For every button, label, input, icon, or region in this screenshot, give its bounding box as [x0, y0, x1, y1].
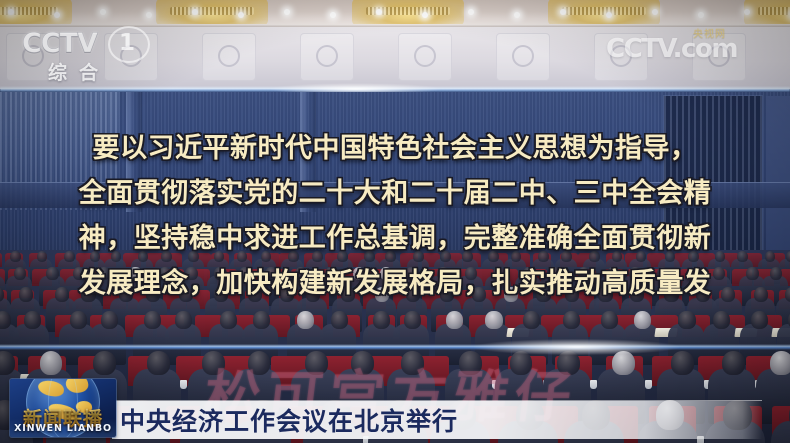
headline-bar: 中央经济工作会议在北京举行 [112, 401, 762, 439]
ceiling-gold-ornament [744, 0, 790, 26]
audience-person-head [70, 311, 87, 329]
program-title-pinyin: XINWEN LIANBO [10, 423, 116, 434]
wall-panel [496, 33, 550, 81]
audience-person-head [485, 311, 502, 329]
channel-number: 1 [108, 28, 146, 58]
ceiling-band [0, 0, 790, 26]
ceiling-light-bulb [192, 9, 198, 15]
audience-person-head [175, 311, 192, 329]
audience-person-head [147, 351, 170, 375]
headline-text: 中央经济工作会议在北京举行 [120, 402, 458, 438]
program-logo-xinwen-lianbo: 新闻联播 XINWEN LIANBO [10, 379, 116, 437]
table-cup [645, 380, 652, 389]
ceiling-gold-ornament [156, 0, 268, 26]
audience-person-head [678, 311, 695, 329]
ceiling-light-bulb [146, 12, 152, 18]
audience-person-head [305, 351, 328, 375]
audience-person-head [404, 311, 421, 329]
subtitle-line-1: 要以习近平新时代中国特色社会主义思想为指导， [0, 126, 790, 171]
subtitle-line-2: 全面贯彻落实党的二十大和二十届二中、三中全会精 [0, 171, 790, 216]
audience-person-head [93, 351, 116, 375]
ceiling-light-bulb [514, 12, 520, 18]
ceiling-light-bulb [560, 9, 566, 15]
ceiling-light-bulb [468, 9, 474, 15]
cctv-com-domain: CCTV.com [606, 34, 756, 64]
audience-person-head [523, 311, 540, 329]
audience-person-head [751, 311, 768, 329]
audience-person-head [101, 311, 118, 329]
wall-panel [398, 33, 452, 81]
ceiling-light-bulb [238, 12, 244, 18]
cctv-com-cn-label: 央视网 [693, 25, 726, 40]
audience-person-head [713, 311, 730, 329]
ceiling-light-bulb [606, 12, 612, 18]
audience-person-head [297, 311, 314, 329]
ceiling-gold-ornament [352, 0, 464, 26]
ceiling-light-bulb [8, 9, 14, 15]
audience-person-head [144, 311, 161, 329]
cctv-channel-logo: CCTV 1 综合 [22, 28, 154, 84]
broadcast-scanline [0, 344, 790, 350]
audience-person-head [634, 311, 651, 329]
ceiling-light-bulb [54, 12, 60, 18]
table-cup [180, 380, 187, 389]
ceiling-light-bulb [422, 12, 428, 18]
audience-person-head [601, 311, 618, 329]
ceiling-light-bulb [376, 9, 382, 15]
ceiling-light-bulb [698, 12, 704, 18]
audience-person-head [722, 351, 745, 375]
audience-person-head [401, 351, 424, 375]
ceiling-light-bulb [652, 9, 658, 15]
table-cup [590, 380, 597, 389]
audience-person-head [220, 311, 237, 329]
wall-panel [202, 33, 256, 81]
audience-person-head [0, 351, 15, 375]
audience-person-head [202, 351, 225, 375]
wall-panel [300, 33, 354, 81]
audience-person-head [446, 311, 463, 329]
audience-person-head [563, 311, 580, 329]
channel-name-cn: 综合 [48, 58, 110, 85]
ceiling-light-bulb [100, 9, 106, 15]
audience-person-head [248, 351, 271, 375]
ceiling-light-bulb [744, 9, 750, 15]
ceiling-light-bulb [284, 9, 290, 15]
audience-person-head [351, 351, 374, 375]
subtitle-line-4: 发展理念，加快构建新发展格局，扎实推动高质量发 [0, 261, 790, 306]
audience-person-head [373, 311, 390, 329]
cctv-network-text: CCTV [22, 28, 97, 59]
ceiling-light-bulb [330, 12, 336, 18]
subtitle-line-3: 神，坚持稳中求进工作总基调，完整准确全面贯彻新 [0, 216, 790, 261]
audience-person-head [40, 351, 63, 375]
audience-person-head [770, 351, 790, 375]
audience-person-head [0, 311, 11, 329]
audience-person-head [253, 311, 270, 329]
broadcast-frame: CCTV 1 综合 央视网 CCTV.com 要以习近平新时代中国特色社会主义思… [0, 0, 790, 443]
audience-person-head [24, 311, 41, 329]
cctv-com-watermark: 央视网 CCTV.com [606, 34, 756, 74]
audience-person-head [331, 311, 348, 329]
subtitle-block: 要以习近平新时代中国特色社会主义思想为指导， 全面贯彻落实党的二十大和二十届二中… [0, 126, 790, 306]
